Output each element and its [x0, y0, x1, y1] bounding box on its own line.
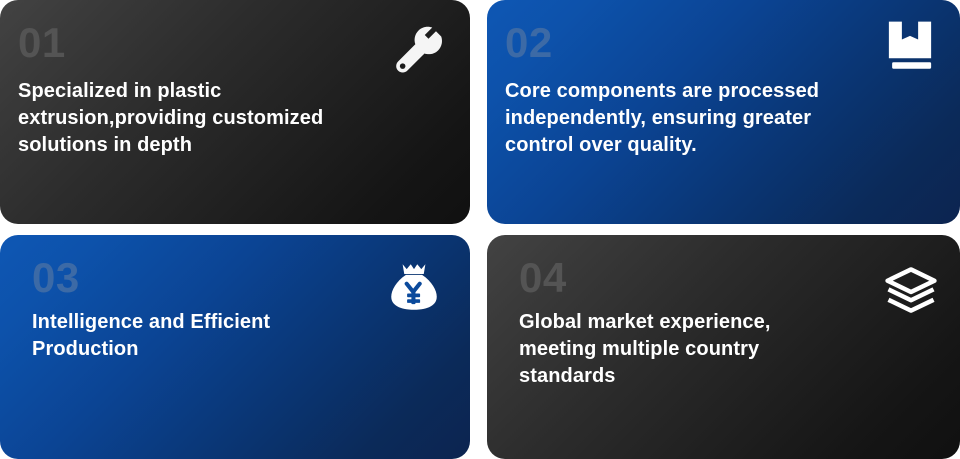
feature-card-04[interactable]: 04 Global market experience, meeting mul…: [487, 235, 960, 459]
card-description: Global market experience, meeting multip…: [519, 309, 934, 390]
card-number: 02: [505, 22, 934, 64]
card-description: Intelligence and Efficient Production: [32, 309, 444, 363]
feature-card-grid: 01 Specialized in plastic extrusion,prov…: [0, 0, 960, 459]
card-number: 03: [32, 257, 444, 299]
card-number: 01: [18, 22, 444, 64]
feature-card-01[interactable]: 01 Specialized in plastic extrusion,prov…: [0, 0, 470, 224]
feature-card-03[interactable]: 03 Intelligence and Efficient Production: [0, 235, 470, 459]
card-description: Core components are processed independen…: [505, 78, 925, 159]
card-number: 04: [519, 257, 934, 299]
feature-card-02[interactable]: 02 Core components are processed indepen…: [487, 0, 960, 224]
card-description: Specialized in plastic extrusion,providi…: [18, 78, 438, 159]
